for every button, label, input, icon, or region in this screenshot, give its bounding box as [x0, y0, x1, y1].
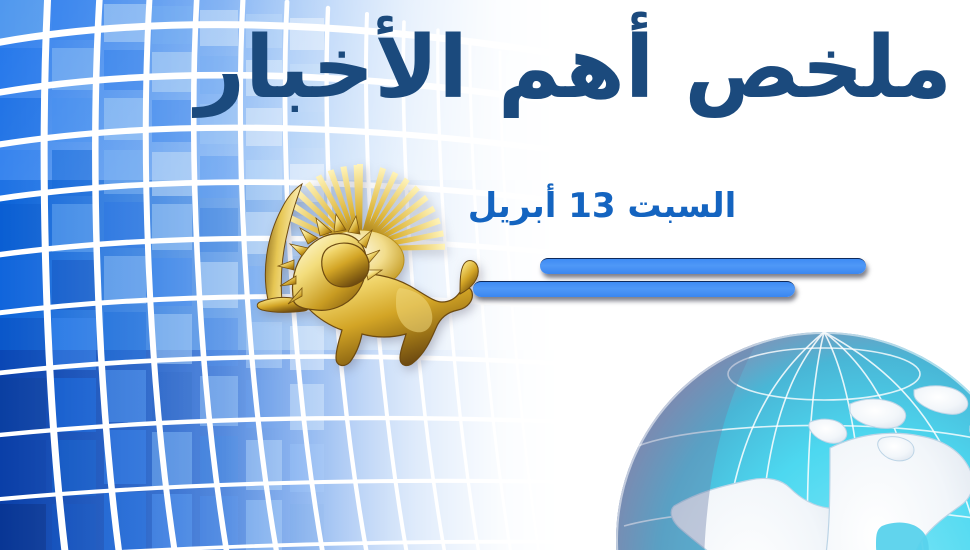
date-subtitle: السبت 13 أبريل [452, 186, 752, 227]
decorative-bar-bottom [473, 281, 795, 297]
globe-north-america [614, 330, 970, 550]
page-title: ملخص أهم الأخبار [232, 18, 952, 119]
lion-and-sun-icon [232, 152, 482, 372]
news-summary-slide: ملخص أهم الأخبار السبت 13 أبريل [0, 0, 970, 550]
decorative-bar-top [540, 258, 866, 274]
